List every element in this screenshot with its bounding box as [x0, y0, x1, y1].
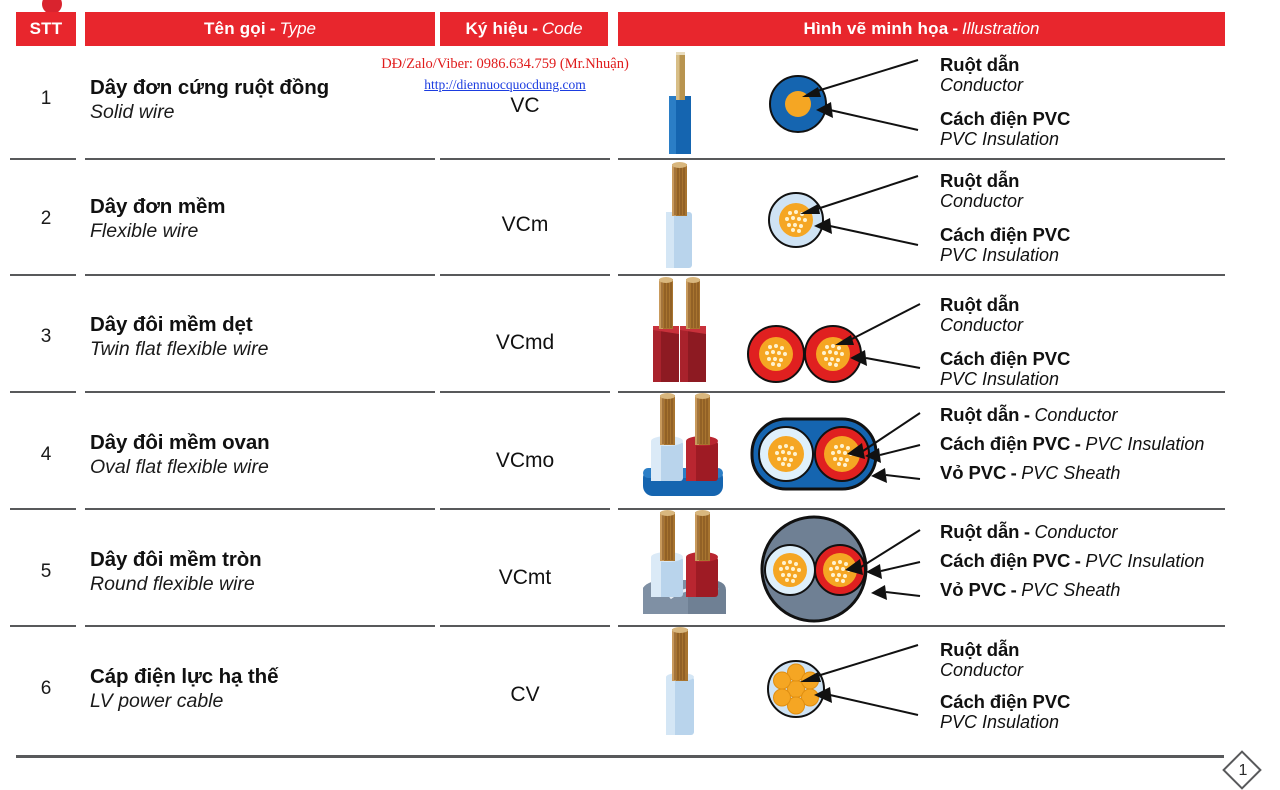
label-conductor-en: Conductor — [1034, 405, 1117, 425]
row-name-en: Oval flat flexible wire — [90, 455, 435, 479]
row-name-cell: Dây đơn cứng ruột đồng Solid wire — [90, 75, 435, 124]
label-conductor: Ruột dẫn Conductor — [940, 639, 1023, 681]
label-sheath: Vỏ PVC - PVC Sheath — [940, 579, 1120, 601]
label-dash: - — [1024, 521, 1030, 542]
header-illustration-dash: - — [948, 19, 962, 39]
label-conductor: Ruột dẫn - Conductor — [940, 521, 1118, 543]
row-name-vn: Dây đôi mềm ovan — [90, 430, 435, 455]
table-row[interactable]: 5 Dây đôi mềm tròn Round flexible wire V… — [0, 510, 1280, 627]
table-row[interactable]: 6 Cáp điện lực hạ thế LV power cable CV — [0, 627, 1280, 745]
label-conductor-vn: Ruột dẫn — [940, 404, 1019, 425]
illustration-solid-wire — [618, 46, 978, 160]
row-name-en: Flexible wire — [90, 219, 435, 243]
label-conductor: Ruột dẫn Conductor — [940, 294, 1023, 336]
row-code: VCmd — [440, 331, 610, 355]
label-insulation-en: PVC Insulation — [940, 712, 1070, 733]
header-cell-code: Ký hiệu - Code — [440, 12, 608, 46]
row-name-cell: Dây đôi mềm dẹt Twin flat flexible wire — [90, 312, 435, 361]
table-row[interactable]: 3 Dây đôi mềm dẹt Twin flat flexible wir… — [0, 276, 1280, 393]
row-illustration: Ruột dẫn Conductor Cách điện PVC PVC Ins… — [618, 627, 1225, 745]
page-number-badge: 1 — [1225, 753, 1261, 789]
row-code: CV — [440, 683, 610, 707]
illustration-oval-flat — [618, 393, 978, 510]
label-sheath-vn: Vỏ PVC — [940, 579, 1006, 600]
label-conductor-en: Conductor — [1034, 522, 1117, 542]
label-sheath: Vỏ PVC - PVC Sheath — [940, 462, 1120, 484]
header-cell-name: Tên gọi - Type — [85, 12, 435, 46]
label-sheath-vn: Vỏ PVC — [940, 462, 1006, 483]
row-name-cell: Cáp điện lực hạ thế LV power cable — [90, 664, 435, 713]
label-dash: - — [1075, 433, 1081, 454]
header-code-dash: - — [528, 19, 542, 39]
illustration-flexible-wire — [618, 160, 978, 276]
header-name-en: Type — [279, 19, 316, 39]
label-insulation-vn: Cách điện PVC — [940, 433, 1070, 454]
label-insulation: Cách điện PVC PVC Insulation — [940, 691, 1070, 733]
footer-rule — [16, 755, 1224, 758]
label-conductor-vn: Ruột dẫn — [940, 170, 1023, 191]
row-name-cell: Dây đôi mềm tròn Round flexible wire — [90, 547, 435, 596]
label-insulation: Cách điện PVC - PVC Insulation — [940, 550, 1204, 572]
page-number: 1 — [1225, 753, 1261, 789]
label-conductor-en: Conductor — [940, 191, 1023, 212]
row-illustration: Ruột dẫn Conductor Cách điện PVC PVC Ins… — [618, 160, 1225, 276]
row-name-vn: Dây đôi mềm dẹt — [90, 312, 435, 337]
label-insulation-en: PVC Insulation — [940, 369, 1070, 390]
table-header: STT Tên gọi - Type Ký hiệu - Code Hình v… — [0, 12, 1280, 46]
label-insulation-vn: Cách điện PVC — [940, 108, 1070, 129]
row-name-vn: Cáp điện lực hạ thế — [90, 664, 435, 689]
table-row[interactable]: 2 Dây đơn mềm Flexible wire VCm — [0, 160, 1280, 276]
row-illustration: Ruột dẫn Conductor Cách điện PVC PVC Ins… — [618, 276, 1225, 393]
row-illustration: Ruột dẫn Conductor Cách điện PVC PVC Ins… — [618, 46, 1225, 160]
row-index: 4 — [16, 444, 76, 466]
label-sheath-en: PVC Sheath — [1021, 463, 1120, 483]
row-name-en: Twin flat flexible wire — [90, 337, 435, 361]
label-dash: - — [1075, 550, 1081, 571]
row-code: VCmt — [440, 566, 610, 590]
label-insulation-en: PVC Insulation — [940, 129, 1070, 150]
row-index: 2 — [16, 208, 76, 230]
table-row[interactable]: 4 Dây đôi mềm ovan Oval flat flexible wi… — [0, 393, 1280, 510]
label-insulation-vn: Cách điện PVC — [940, 691, 1070, 712]
table-body: 1 Dây đơn cứng ruột đồng Solid wire VC — [0, 46, 1280, 745]
label-conductor-vn: Ruột dẫn — [940, 54, 1023, 75]
row-index: 1 — [16, 88, 76, 110]
label-insulation: Cách điện PVC PVC Insulation — [940, 348, 1070, 390]
header-illustration-en: Illustration — [962, 19, 1039, 39]
label-conductor-vn: Ruột dẫn — [940, 294, 1023, 315]
label-insulation-en: PVC Insulation — [1085, 551, 1204, 571]
illustration-round-cable — [618, 510, 978, 627]
row-illustration: Ruột dẫn - Conductor Cách điện PVC - PVC… — [618, 393, 1225, 510]
row-name-en: Solid wire — [90, 100, 435, 124]
label-dash: - — [1024, 404, 1030, 425]
header-code-vn: Ký hiệu — [465, 19, 528, 39]
illustration-twin-flat — [618, 276, 978, 393]
label-conductor: Ruột dẫn - Conductor — [940, 404, 1118, 426]
row-illustration: Ruột dẫn - Conductor Cách điện PVC - PVC… — [618, 510, 1225, 627]
label-insulation: Cách điện PVC PVC Insulation — [940, 224, 1070, 266]
row-name-en: Round flexible wire — [90, 572, 435, 596]
illustration-lv-power-cable — [618, 627, 978, 745]
row-name-en: LV power cable — [90, 689, 435, 713]
label-conductor: Ruột dẫn Conductor — [940, 54, 1023, 96]
header-name-dash: - — [266, 19, 280, 39]
row-name-vn: Dây đơn cứng ruột đồng — [90, 75, 435, 100]
row-code: VC — [440, 94, 610, 118]
header-stt-label: STT — [30, 19, 63, 39]
label-conductor-en: Conductor — [940, 75, 1023, 96]
row-index: 6 — [16, 678, 76, 700]
row-name-cell: Dây đôi mềm ovan Oval flat flexible wire — [90, 430, 435, 479]
label-insulation-vn: Cách điện PVC — [940, 348, 1070, 369]
label-insulation-en: PVC Insulation — [1085, 434, 1204, 454]
row-index: 3 — [16, 326, 76, 348]
row-name-cell: Dây đơn mềm Flexible wire — [90, 194, 435, 243]
table-row[interactable]: 1 Dây đơn cứng ruột đồng Solid wire VC — [0, 46, 1280, 160]
label-dash: - — [1011, 579, 1017, 600]
label-dash: - — [1011, 462, 1017, 483]
label-insulation-vn: Cách điện PVC — [940, 550, 1070, 571]
row-index: 5 — [16, 561, 76, 583]
row-name-vn: Dây đơn mềm — [90, 194, 435, 219]
row-name-vn: Dây đôi mềm tròn — [90, 547, 435, 572]
label-sheath-en: PVC Sheath — [1021, 580, 1120, 600]
label-insulation-vn: Cách điện PVC — [940, 224, 1070, 245]
header-code-en: Code — [542, 19, 583, 39]
header-cell-stt: STT — [16, 12, 76, 46]
header-name-vn: Tên gọi — [204, 19, 266, 39]
label-conductor-vn: Ruột dẫn — [940, 639, 1023, 660]
label-conductor: Ruột dẫn Conductor — [940, 170, 1023, 212]
label-insulation: Cách điện PVC PVC Insulation — [940, 108, 1070, 150]
header-cell-illustration: Hình vẽ minh họa - Illustration — [618, 12, 1225, 46]
header-illustration-vn: Hình vẽ minh họa — [803, 19, 948, 39]
label-conductor-vn: Ruột dẫn — [940, 521, 1019, 542]
row-code: VCmo — [440, 449, 610, 473]
label-conductor-en: Conductor — [940, 660, 1023, 681]
row-code: VCm — [440, 213, 610, 237]
label-insulation-en: PVC Insulation — [940, 245, 1070, 266]
label-conductor-en: Conductor — [940, 315, 1023, 336]
label-insulation: Cách điện PVC - PVC Insulation — [940, 433, 1204, 455]
